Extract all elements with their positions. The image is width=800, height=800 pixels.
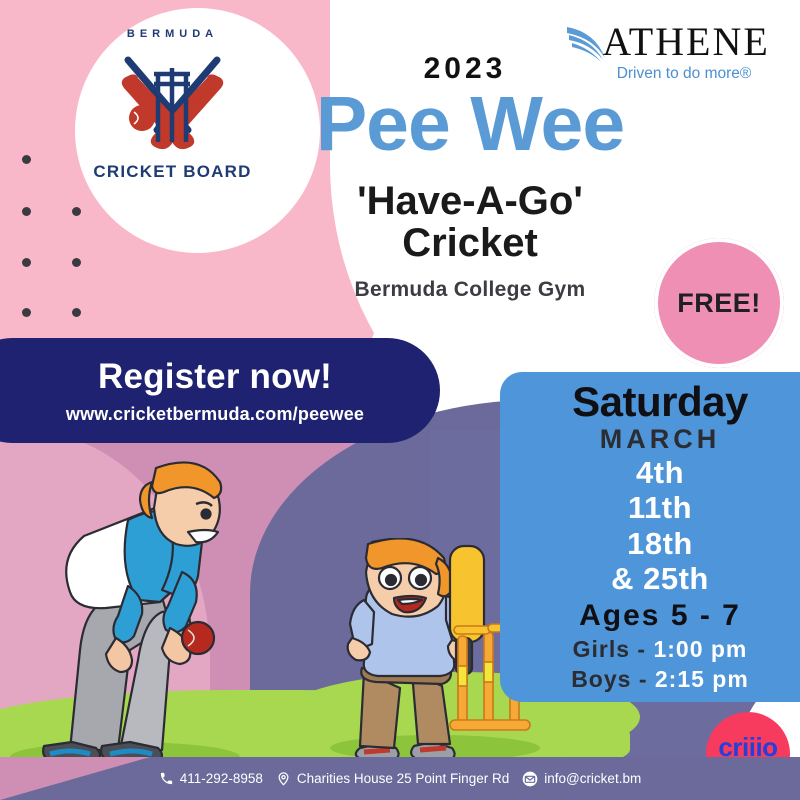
decorative-dot <box>72 207 81 216</box>
subtitle-cricket: Cricket <box>245 222 695 264</box>
schedule-day: Saturday <box>500 380 800 424</box>
poster: BERMUDA CRICKET BOARD <box>0 0 800 800</box>
logo-bottom-text: CRICKET BOARD <box>80 162 265 182</box>
schedule-panel: Saturday MARCH 4th11th18th& 25th Ages 5 … <box>500 372 800 702</box>
schedule-date: 11th <box>500 490 800 525</box>
envelope-icon <box>522 771 538 787</box>
schedule-session: Girls - 1:00 pm <box>500 635 800 665</box>
subtitle-have-a-go: 'Have-A-Go' <box>245 180 695 222</box>
footer-email[interactable]: info@cricket.bm <box>522 771 641 787</box>
cricket-bats-wickets-ball-icon <box>80 44 265 162</box>
free-badge-label: FREE! <box>677 288 761 319</box>
decorative-dot <box>22 155 31 164</box>
footer-email-text: info@cricket.bm <box>544 771 641 786</box>
bermuda-cricket-board-logo: BERMUDA CRICKET BOARD <box>80 28 265 188</box>
schedule-month: MARCH <box>500 424 800 455</box>
schedule-session: Boys - 2:15 pm <box>500 665 800 695</box>
free-badge: FREE! <box>654 238 784 368</box>
schedule-sessions: Girls - 1:00 pmBoys - 2:15 pm <box>500 635 800 695</box>
schedule-date: 18th <box>500 526 800 561</box>
schedule-ages: Ages 5 - 7 <box>500 596 800 635</box>
page-title: Pee Wee <box>245 88 695 161</box>
schedule-date: 4th <box>500 455 800 490</box>
schedule-date: & 25th <box>500 561 800 596</box>
register-banner[interactable]: Register now! www.cricketbermuda.com/pee… <box>0 338 440 443</box>
footer-phone-text: 411-292-8958 <box>180 771 263 786</box>
phone-icon <box>159 771 174 786</box>
decorative-dot <box>72 258 81 267</box>
footer-address-text: Charities House 25 Point Finger Rd <box>297 771 509 786</box>
footer-address: Charities House 25 Point Finger Rd <box>276 771 509 786</box>
decorative-dot <box>72 308 81 317</box>
decorative-dot <box>22 258 31 267</box>
location-pin-icon <box>276 771 291 786</box>
logo-arc-text: BERMUDA <box>80 28 265 40</box>
schedule-dates: 4th11th18th& 25th <box>500 455 800 596</box>
venue-label: Bermuda College Gym <box>245 278 695 302</box>
decorative-dot <box>22 207 31 216</box>
register-title: Register now! <box>98 357 332 397</box>
footer-contact-bar: 411-292-8958 Charities House 25 Point Fi… <box>0 757 800 800</box>
footer-phone[interactable]: 411-292-8958 <box>159 771 263 786</box>
decorative-dot <box>22 308 31 317</box>
register-url[interactable]: www.cricketbermuda.com/peewee <box>66 404 364 425</box>
adult-bowler-illustration <box>10 450 300 770</box>
